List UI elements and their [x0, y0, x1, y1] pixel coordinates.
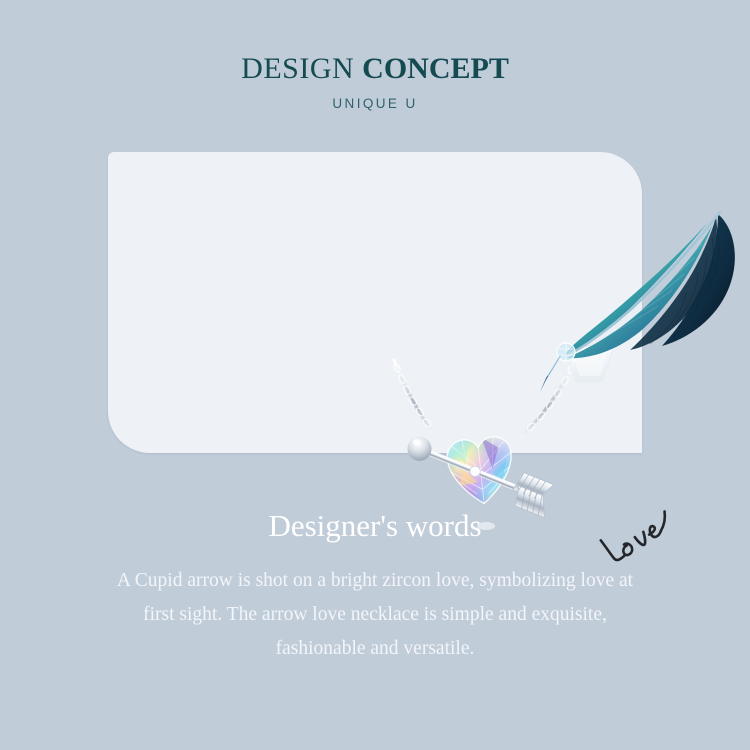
- header: DESIGN CONCEPT UNIQUE U: [0, 0, 750, 112]
- page-title-bold: CONCEPT: [362, 52, 509, 85]
- chain-left-links: [393, 363, 432, 428]
- arrow-ball-end: [404, 433, 435, 464]
- designer-words-body: A Cupid arrow is shot on a bright zircon…: [115, 547, 635, 666]
- designer-words-heading: Designer's words: [0, 505, 750, 547]
- chain-right-links: [526, 364, 575, 432]
- arrow-accent-stone: [468, 465, 482, 479]
- feather-barbs-dark: [650, 224, 719, 344]
- hero-image-card: [108, 152, 642, 453]
- page-title: DESIGN CONCEPT: [0, 0, 750, 86]
- zircon-heart-pendant: [445, 432, 516, 506]
- designer-words-section: Designer's words A Cupid arrow is shot o…: [0, 505, 750, 666]
- chain-right: [522, 360, 574, 436]
- design-concept-page: DESIGN CONCEPT UNIQUE U: [0, 0, 750, 750]
- page-subtitle: UNIQUE U: [0, 86, 750, 112]
- page-title-regular: DESIGN: [241, 52, 362, 85]
- feather-vane-upper: [662, 214, 735, 346]
- chain-left: [394, 360, 432, 432]
- feather-vane-upper-inner: [630, 216, 717, 350]
